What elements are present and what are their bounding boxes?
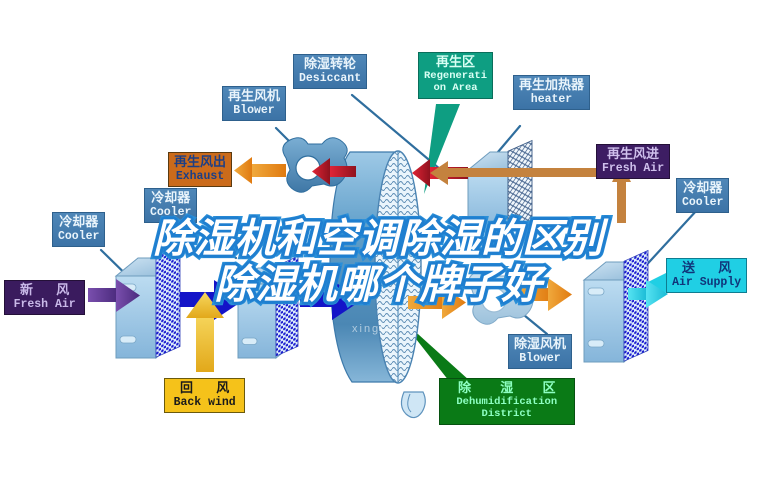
- watermark-text: xingtai: [352, 323, 398, 335]
- arrow-exhaust: [234, 157, 286, 184]
- label-cooler-right-cn: 冷却器: [682, 181, 723, 196]
- label-regeneration-area-en-1: Regenerati: [424, 71, 487, 83]
- label-regen-fresh-air: 再生风进 Fresh Air: [596, 144, 670, 179]
- label-back-wind-en: Back wind: [170, 397, 239, 410]
- label-cooler-left: 冷却器 Cooler: [52, 212, 105, 247]
- label-cooler-middle-cn: 冷却器: [150, 191, 191, 206]
- label-cooler-right-en: Cooler: [682, 197, 723, 210]
- label-regen-blower-en: Blower: [228, 105, 280, 118]
- label-regen-blower: 再生风机 Blower: [222, 86, 286, 121]
- label-desiccant-wheel-en: Desiccant: [299, 73, 361, 86]
- label-cooler-left-cn: 冷却器: [58, 215, 99, 230]
- label-regeneration-area-en-2: on Area: [424, 83, 487, 95]
- label-cooler-left-en: Cooler: [58, 231, 99, 244]
- cooler-unit-right: [584, 251, 648, 362]
- process-diagram: xingtai: [0, 0, 757, 488]
- label-regen-heater: 再生加热器 heater: [513, 75, 590, 110]
- label-fresh-air-cn: 新 风: [10, 283, 79, 298]
- label-regen-exhaust-cn: 再生风出: [174, 155, 226, 170]
- label-dehum-blower: 除湿风机 Blower: [508, 334, 572, 369]
- label-dehumidification-district-cn: 除 湿 区: [445, 381, 569, 396]
- label-regen-blower-cn: 再生风机: [228, 89, 280, 104]
- label-air-supply-cn: 送 风: [672, 261, 741, 276]
- label-regen-heater-en: heater: [519, 94, 584, 107]
- label-regen-exhaust: 再生风出 Exhaust: [168, 152, 232, 187]
- label-regeneration-area-cn: 再生区: [424, 55, 487, 70]
- label-back-wind-cn: 回 风: [170, 381, 239, 396]
- label-air-supply-en: Air Supply: [672, 277, 741, 290]
- label-dehum-blower-en: Blower: [514, 353, 566, 366]
- label-regen-fresh-air-en: Fresh Air: [602, 163, 664, 176]
- label-dehum-blower-cn: 除湿风机: [514, 337, 566, 352]
- label-dehumidification-district: 除 湿 区 Dehumidification District: [439, 378, 575, 425]
- label-regen-exhaust-en: Exhaust: [174, 171, 226, 184]
- desiccant-wheel-graphic: [330, 151, 425, 418]
- regen-heater-graphic: [468, 141, 532, 232]
- dehumidifier-diagram-image: xingtai 除湿转轮 Desiccant 再生风机 Blower 再生区 R…: [0, 0, 757, 488]
- label-regen-fresh-air-cn: 再生风进: [602, 147, 664, 162]
- label-desiccant-wheel: 除湿转轮 Desiccant: [293, 54, 367, 89]
- label-fresh-air-en: Fresh Air: [10, 299, 79, 312]
- label-fresh-air: 新 风 Fresh Air: [4, 280, 85, 315]
- regen-blower-graphic: [283, 138, 347, 193]
- label-back-wind: 回 风 Back wind: [164, 378, 245, 413]
- label-air-supply: 送 风 Air Supply: [666, 258, 747, 293]
- label-desiccant-wheel-cn: 除湿转轮: [299, 57, 361, 72]
- label-regen-heater-cn: 再生加热器: [519, 78, 584, 93]
- label-dehumidification-district-en-1: Dehumidification: [445, 397, 569, 409]
- label-cooler-middle-en: Cooler: [150, 207, 191, 220]
- label-regeneration-area: 再生区 Regenerati on Area: [418, 52, 493, 99]
- label-cooler-middle: 冷却器 Cooler: [144, 188, 197, 223]
- cooler-unit-middle: [238, 256, 298, 358]
- label-cooler-right: 冷却器 Cooler: [676, 178, 729, 213]
- label-dehumidification-district-en-2: District: [445, 409, 569, 421]
